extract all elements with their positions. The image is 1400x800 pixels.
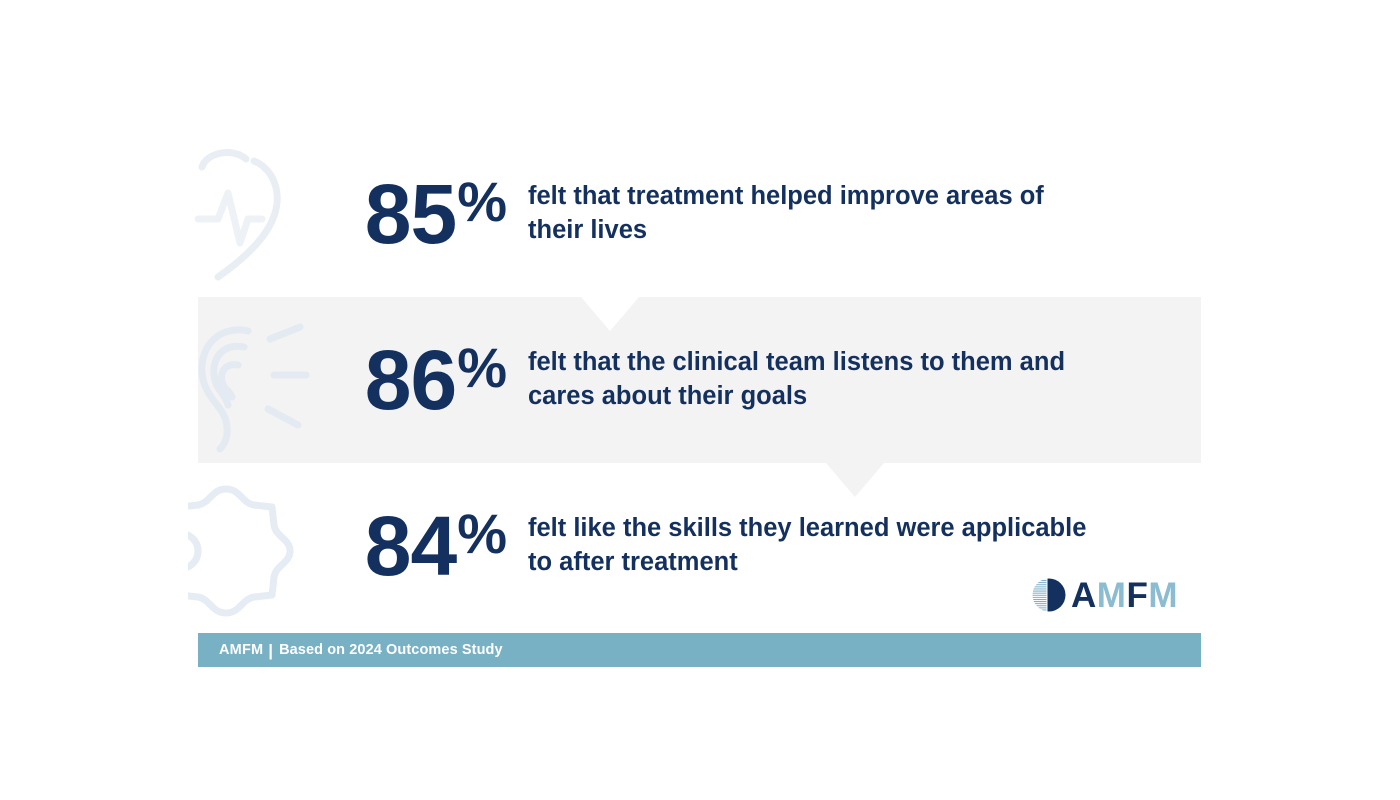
notch-triangle-top — [581, 297, 639, 331]
stat-caption: felt that the clinical team listens to t… — [528, 346, 1088, 413]
percent-symbol: % — [457, 336, 506, 399]
logo-letter-m1: M — [1097, 576, 1127, 615]
logo-letter-f: F — [1126, 576, 1148, 615]
footer-brand: AMFM — [219, 642, 263, 658]
infographic-canvas: 85% felt that treatment helped improve a… — [0, 0, 1400, 800]
stat-value: 86 — [365, 333, 456, 427]
stat-percentage: 86% — [198, 338, 528, 422]
stat-row: 85% felt that treatment helped improve a… — [198, 131, 1201, 297]
stat-caption: felt like the skills they learned were a… — [528, 512, 1088, 579]
amfm-circle-mark-icon — [1032, 578, 1066, 612]
footer-separator: | — [268, 642, 273, 659]
stat-caption: felt that treatment helped improve areas… — [528, 180, 1088, 247]
logo-letter-a1: A — [1071, 576, 1097, 615]
stat-value: 84 — [365, 499, 456, 593]
logo-letter-m2: M — [1148, 576, 1178, 615]
percent-symbol: % — [457, 502, 506, 565]
stat-value: 85 — [365, 167, 456, 261]
amfm-logo-text: AMFM — [1071, 578, 1178, 613]
amfm-logo: AMFM — [1032, 576, 1178, 614]
stat-row: 86% felt that the clinical team listens … — [198, 297, 1201, 463]
notch-triangle-bottom — [826, 463, 884, 497]
footer-source-bar: AMFM | Based on 2024 Outcomes Study — [198, 633, 1201, 667]
percent-symbol: % — [457, 170, 506, 233]
footer-source-text: Based on 2024 Outcomes Study — [279, 642, 503, 658]
stat-percentage: 85% — [198, 172, 528, 256]
stat-percentage: 84% — [198, 504, 528, 588]
